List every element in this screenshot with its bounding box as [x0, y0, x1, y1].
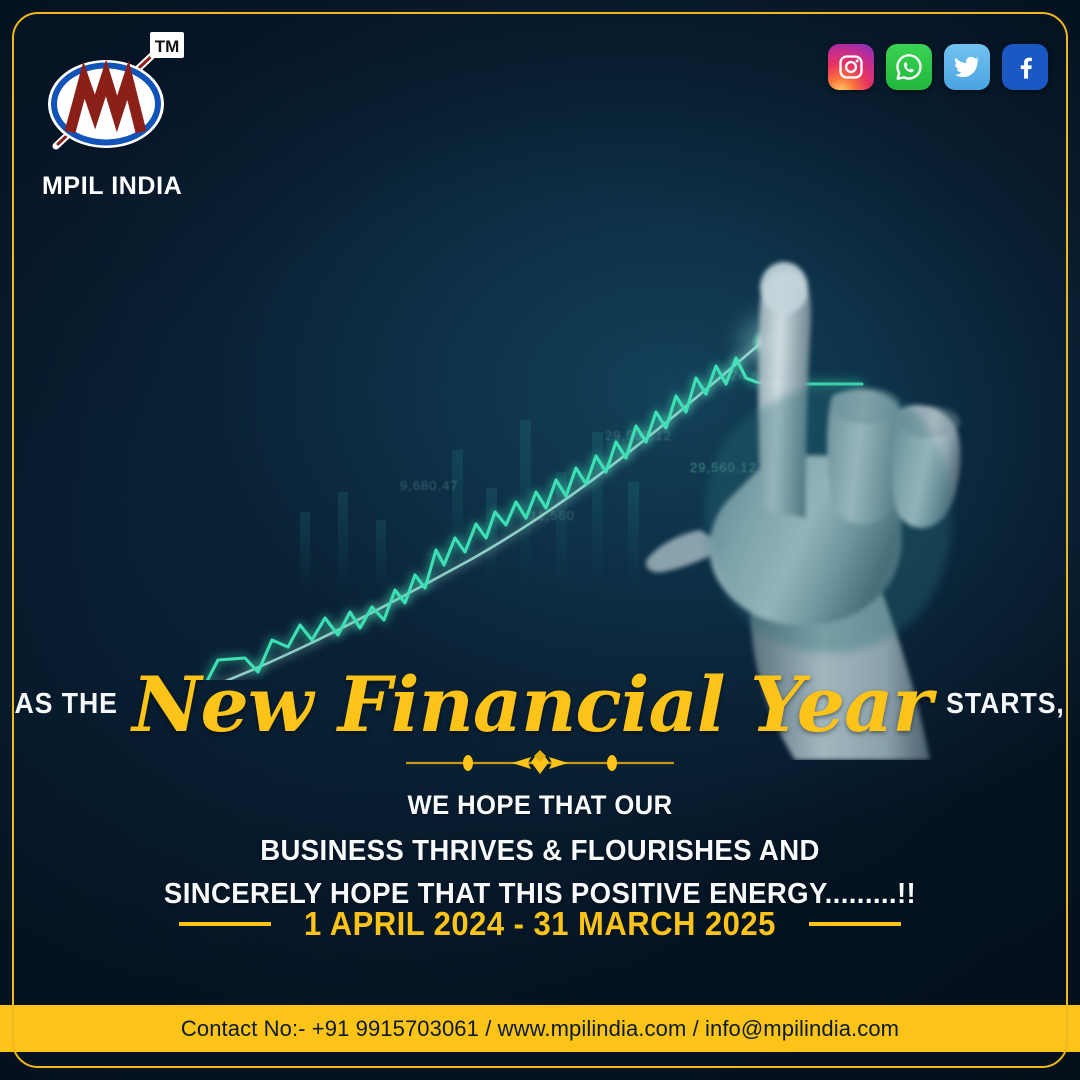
contact-footer-bar: Contact No:- +91 9915703061 / www.mpilin… [0, 1005, 1080, 1052]
body-message: WE HOPE THAT OUR BUSINESS THRIVES & FLOU… [0, 790, 1080, 911]
brand-name: MPIL INDIA [42, 172, 193, 201]
instagram-icon[interactable] [828, 44, 874, 90]
ornament-svg [400, 748, 680, 778]
trend-curve [115, 342, 762, 680]
twitter-bird-glyph [953, 53, 981, 81]
financial-year-poster: 11,560 9,680.47 29,560.12 124,820 29,560… [0, 0, 1080, 1080]
body-line-1: WE HOPE THAT OUR [27, 790, 1053, 821]
logo-tm-text: TM [155, 37, 180, 56]
headline-row: AS THENew Financial YearSTARTS, [0, 660, 1080, 749]
brand-logo-block[interactable]: TM MPIL INDIA [38, 28, 193, 201]
logo-svg: TM [38, 28, 193, 168]
whatsapp-glyph [894, 52, 924, 82]
ornamental-divider [400, 748, 680, 778]
instagram-glyph [837, 53, 865, 81]
facebook-f-glyph [1011, 53, 1039, 81]
date-range-text: 1 APRIL 2024 - 31 MARCH 2025 [304, 905, 776, 943]
twitter-icon[interactable] [944, 44, 990, 90]
stock-chart-graphic: 11,560 9,680.47 29,560.12 124,820 29,560… [0, 120, 1080, 680]
headline-suffix: STARTS, [947, 688, 1066, 721]
headline-prefix: AS THE [14, 688, 117, 721]
date-rule-left [179, 922, 271, 926]
background-bars [300, 420, 639, 592]
chart-svg [0, 120, 1080, 680]
body-line-2: BUSINESS THRIVES & FLOURISHES AND [27, 835, 1053, 868]
contact-info-text[interactable]: Contact No:- +91 9915703061 / www.mpilin… [181, 1016, 899, 1042]
facebook-icon[interactable] [1002, 44, 1048, 90]
headline-script: New Financial Year [122, 660, 941, 749]
date-range-row: 1 APRIL 2024 - 31 MARCH 2025 [0, 905, 1080, 943]
whatsapp-icon[interactable] [886, 44, 932, 90]
mpil-oval-zigzag-logo: TM [38, 28, 193, 168]
peak-core-dot [760, 336, 772, 348]
date-rule-right [809, 922, 901, 926]
social-icons-row [828, 44, 1048, 90]
